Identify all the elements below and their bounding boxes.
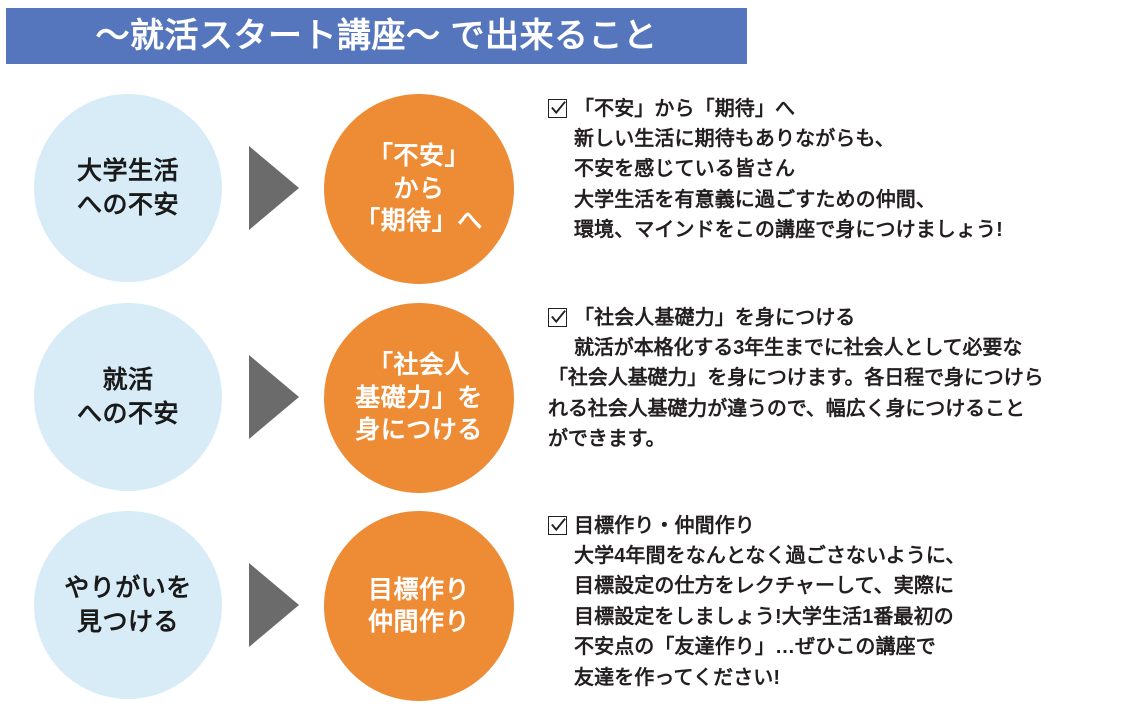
solution-circle-text: 「社会人 基礎力」を 身につける	[355, 349, 483, 447]
check-box-icon	[548, 516, 567, 535]
benefit-body: 就活が本格化する3年生までに社会人として必要な 「社会人基礎力」を身につけます。…	[548, 333, 1108, 455]
solution-circle-line: 目標作り	[368, 574, 470, 607]
solution-circle: 「不安」 から 「期待」へ	[324, 94, 514, 284]
problem-circle: 大学生活 への不安	[34, 94, 222, 282]
benefit-heading: 「不安」から「期待」へ	[574, 96, 795, 122]
benefit-body-line: 大学生活を有意義に過ごすための仲間、	[574, 185, 1108, 215]
benefit-description: 「社会人基礎力」を身につける 就活が本格化する3年生までに社会人として必要な 「…	[548, 305, 1108, 455]
benefit-heading-row: 「社会人基礎力」を身につける	[548, 305, 1108, 331]
benefit-heading: 目標作り・仲間作り	[574, 513, 755, 539]
benefit-row: やりがいを 見つける 目標作り 仲間作り 目標作り・仲間作り 大学4年間を	[0, 505, 1131, 705]
infographic-page: 〜就活スタート講座〜 で出来ること 大学生活 への不安 「不安」 から 「期待」…	[0, 0, 1131, 712]
problem-circle-line: 見つける	[64, 605, 192, 640]
benefit-body-line: 友達を作ってください!	[574, 663, 1108, 693]
solution-circle-line: 身につける	[355, 414, 483, 447]
benefit-row: 就活 への不安 「社会人 基礎力」を 身につける 「社会人基礎力」を身につける	[0, 297, 1131, 497]
problem-circle-text: 就活 への不安	[77, 363, 179, 432]
solution-circle-line: 基礎力」を	[355, 382, 483, 415]
benefit-heading-row: 目標作り・仲間作り	[548, 513, 1108, 539]
problem-circle-text: 大学生活 への不安	[77, 154, 179, 223]
benefit-body-line: 目標設定をしましょう!大学生活1番最初の	[574, 602, 1108, 632]
solution-circle-line: 仲間作り	[368, 606, 470, 639]
benefit-description: 「不安」から「期待」へ 新しい生活に期待もありながらも、 不安を感じている皆さん…	[548, 96, 1108, 246]
solution-circle-line: 「不安」	[355, 140, 483, 173]
problem-circle-line: への不安	[77, 397, 179, 432]
right-triangle-arrow-icon	[249, 563, 299, 647]
benefit-description: 目標作り・仲間作り 大学4年間をなんとなく過ごさないように、 目標設定の仕方をレ…	[548, 513, 1108, 693]
benefit-body-line: 不安を感じている皆さん	[574, 154, 1108, 184]
benefit-body-line: 就活が本格化する3年生までに社会人として必要な	[548, 333, 1108, 363]
page-title: 〜就活スタート講座〜 で出来ること	[96, 19, 658, 53]
solution-circle: 「社会人 基礎力」を 身につける	[324, 303, 514, 493]
solution-circle-text: 「不安」 から 「期待」へ	[355, 140, 483, 238]
header-banner: 〜就活スタート講座〜 で出来ること	[6, 8, 747, 64]
problem-circle: やりがいを 見つける	[34, 511, 222, 699]
solution-circle-line: から	[355, 173, 483, 206]
benefit-body-line: 「社会人基礎力」を身につけます。各日程で身につけら	[548, 363, 1108, 393]
benefit-body-line: 環境、マインドをこの講座で身につけましょう!	[574, 215, 1108, 245]
benefit-body-line: 目標設定の仕方をレクチャーして、実際に	[574, 571, 1108, 601]
solution-circle-line: 「社会人	[355, 349, 483, 382]
benefit-body: 大学4年間をなんとなく過ごさないように、 目標設定の仕方をレクチャーして、実際に…	[574, 541, 1108, 693]
check-box-icon	[548, 99, 567, 118]
solution-circle-line: 「期待」へ	[355, 205, 483, 238]
benefit-body-line: 新しい生活に期待もありながらも、	[574, 124, 1108, 154]
problem-circle-line: 大学生活	[77, 154, 179, 189]
problem-circle-text: やりがいを 見つける	[64, 571, 192, 640]
right-triangle-arrow-icon	[249, 146, 299, 230]
problem-circle: 就活 への不安	[34, 303, 222, 491]
right-triangle-arrow-icon	[249, 355, 299, 439]
problem-circle-line: 就活	[77, 363, 179, 398]
benefit-body-line: ができます。	[548, 424, 1108, 454]
solution-circle-text: 目標作り 仲間作り	[368, 574, 470, 639]
benefit-body-line: 大学4年間をなんとなく過ごさないように、	[574, 541, 1108, 571]
check-box-icon	[548, 308, 567, 327]
benefit-heading-row: 「不安」から「期待」へ	[548, 96, 1108, 122]
benefit-heading: 「社会人基礎力」を身につける	[574, 305, 855, 331]
benefit-row: 大学生活 への不安 「不安」 から 「期待」へ 「不安」から「期待」へ	[0, 88, 1131, 288]
solution-circle: 目標作り 仲間作り	[324, 511, 514, 701]
benefit-body-line: 不安点の「友達作り」…ぜひこの講座で	[574, 632, 1108, 662]
benefit-body-line: れる社会人基礎力が違うので、幅広く身につけること	[548, 394, 1108, 424]
problem-circle-line: やりがいを	[64, 571, 192, 606]
benefit-body: 新しい生活に期待もありながらも、 不安を感じている皆さん 大学生活を有意義に過ご…	[574, 124, 1108, 246]
problem-circle-line: への不安	[77, 188, 179, 223]
